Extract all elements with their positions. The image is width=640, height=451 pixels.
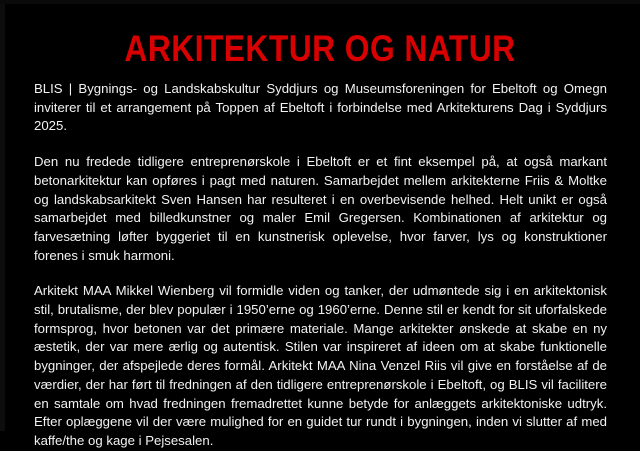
left-edge-band	[0, 0, 5, 431]
page-title: ARKITEKTUR OG NATUR	[45, 30, 595, 67]
paragraph-intro: BLIS | Bygnings- og Landskabskultur Sydd…	[34, 80, 607, 136]
poster-canvas: ARKITEKTUR OG NATUR BLIS | Bygnings- og …	[0, 0, 640, 431]
paragraph-programme: Arkitekt MAA Mikkel Wienberg vil formidl…	[34, 282, 607, 450]
top-edge-band	[0, 0, 640, 4]
paragraph-building-description: Den nu fredede tidligere entreprenørskol…	[34, 153, 607, 265]
poster-body: BLIS | Bygnings- og Landskabskultur Sydd…	[34, 80, 607, 451]
